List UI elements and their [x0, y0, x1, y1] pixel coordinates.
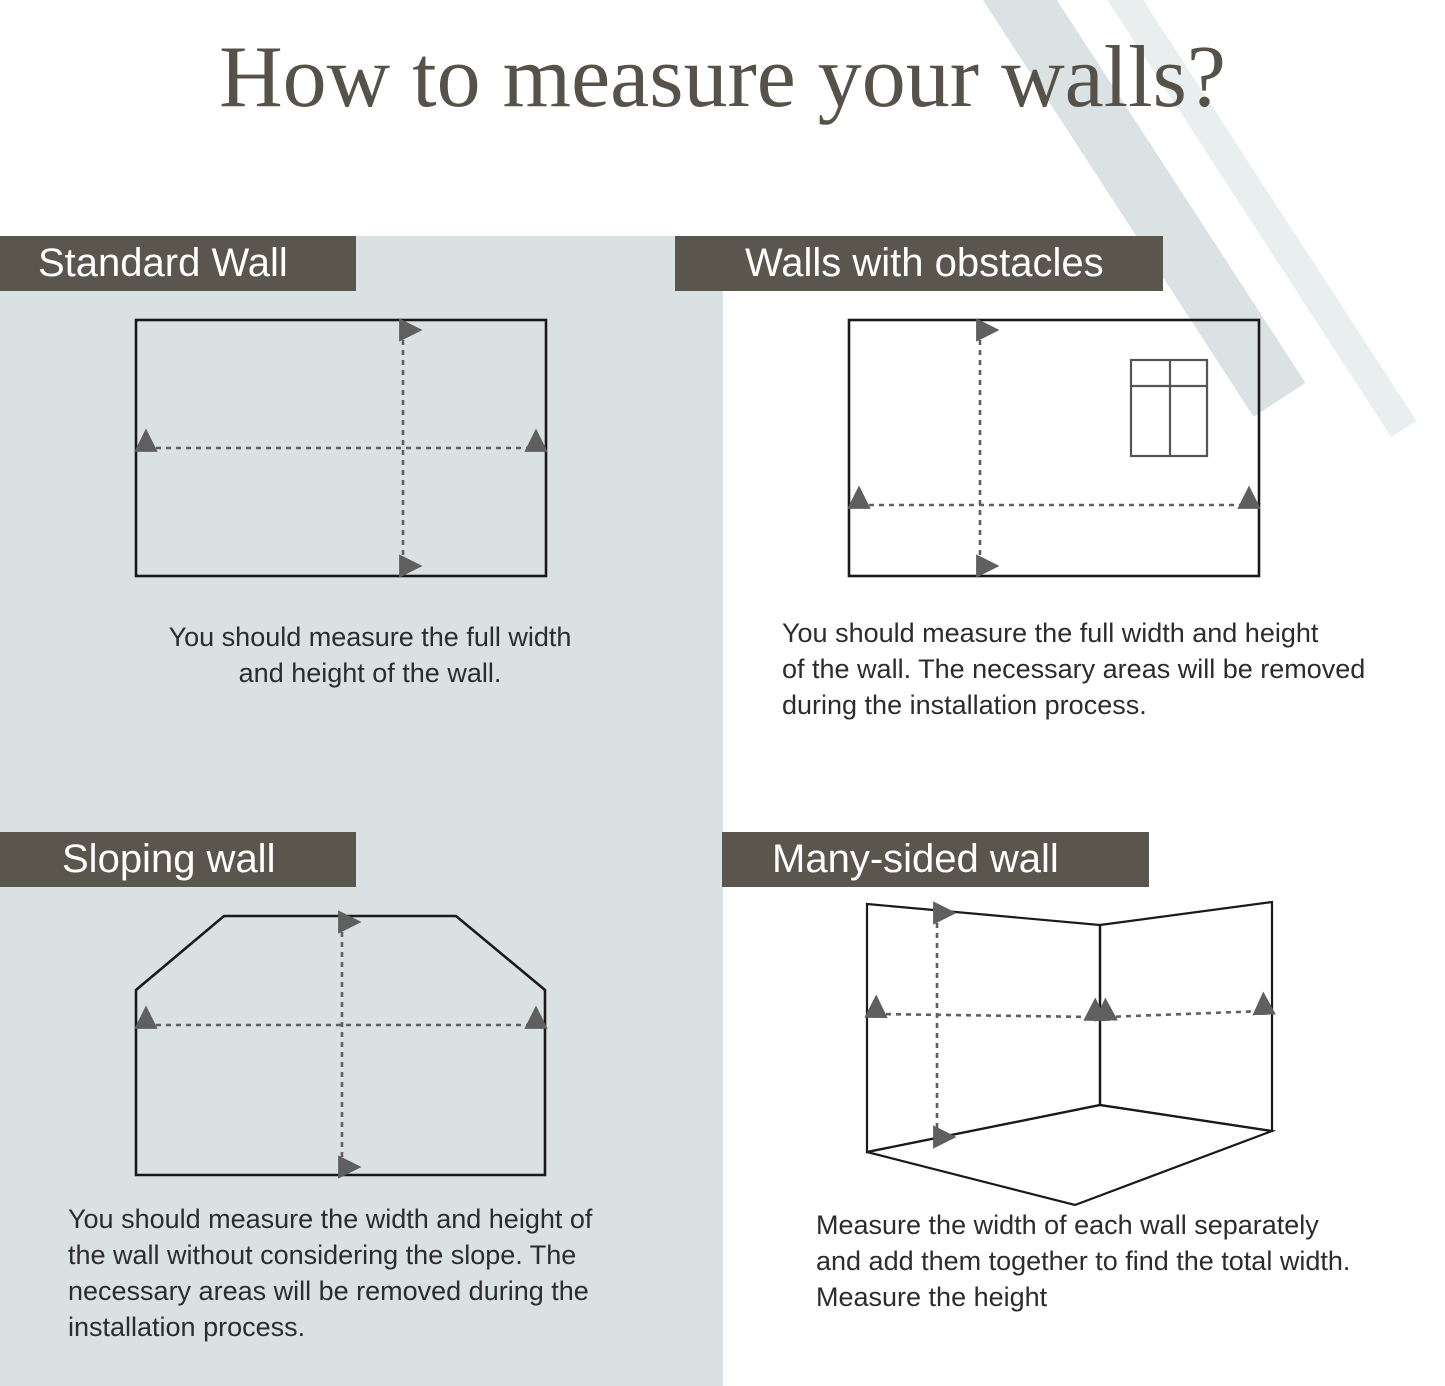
sloping-wall-diagram — [110, 895, 580, 1195]
wall-rectangle — [849, 320, 1259, 576]
window-obstacle-icon — [1131, 360, 1207, 456]
caption-sloping-wall: You should measure the width and height … — [68, 1202, 668, 1346]
many-sided-wall-diagram — [840, 885, 1300, 1220]
left-wall-width-dimension-arrow — [876, 1014, 1095, 1017]
caption-walls-with-obstacles: You should measure the full width and he… — [782, 616, 1422, 724]
sloping-wall-shape — [136, 916, 545, 1175]
left-wall-face — [867, 904, 1100, 1152]
right-wall-width-dimension-arrow — [1106, 1011, 1264, 1017]
section-header-walls-with-obstacles: Walls with obstacles — [675, 236, 1163, 291]
caption-standard-wall: You should measure the full width and he… — [110, 620, 630, 692]
section-header-standard-wall: Standard Wall — [0, 236, 356, 291]
obstacle-wall-diagram — [830, 300, 1290, 600]
infographic-page: How to measure your walls? Standard Wall… — [0, 0, 1445, 1386]
section-header-sloping-wall: Sloping wall — [0, 832, 356, 887]
right-wall-face — [1100, 902, 1272, 1131]
caption-many-sided-wall: Measure the width of each wall separatel… — [816, 1208, 1436, 1316]
section-header-many-sided-wall: Many-sided wall — [722, 832, 1149, 887]
page-title: How to measure your walls? — [0, 34, 1445, 122]
standard-wall-diagram — [120, 300, 570, 600]
floor-face — [867, 1105, 1272, 1205]
